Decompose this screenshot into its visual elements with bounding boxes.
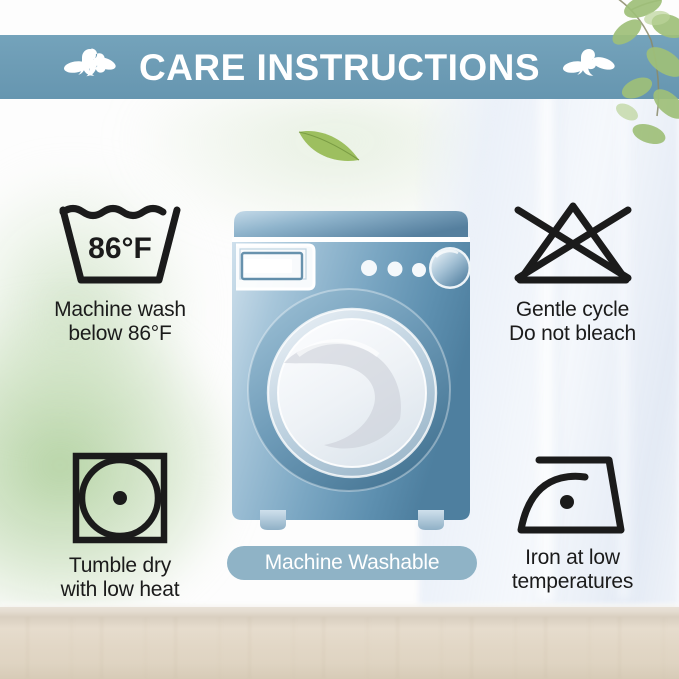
machine-washable-badge: Machine Washable [227, 546, 477, 580]
tumble-dry-icon [68, 448, 172, 548]
tumble-dry-heat-dot [113, 491, 127, 505]
care-symbol-iron: Iron at low temperatures [470, 448, 675, 593]
crossed-triangle-icon [508, 196, 638, 292]
iron-heat-dot [560, 495, 574, 509]
washer-foot-left [260, 510, 286, 530]
care-symbol-do-not-bleach: Gentle cycle Do not bleach [470, 196, 675, 345]
washer-button-3 [412, 263, 426, 277]
wash-tub-icon: 86°F [51, 196, 189, 292]
header-banner: CARE INSTRUCTIONS [0, 35, 679, 99]
care-symbol-caption: Machine wash below 86°F [14, 298, 226, 345]
care-symbol-caption: Gentle cycle Do not bleach [470, 298, 675, 345]
care-symbol-caption: Iron at low temperatures [470, 546, 675, 593]
wooden-table-surface [0, 607, 679, 679]
machine-washable-label: Machine Washable [265, 551, 440, 575]
page-title: CARE INSTRUCTIONS [139, 49, 540, 86]
care-symbol-machine-wash: 86°F Machine wash below 86°F [14, 196, 226, 345]
washer-top-lid [234, 211, 468, 237]
washing-machine-icon [228, 205, 474, 540]
washer-button-1 [361, 260, 377, 276]
iron-icon [509, 448, 637, 540]
wood-grain-texture [0, 617, 679, 679]
care-symbol-caption: Tumble dry with low heat [14, 554, 226, 601]
care-symbol-tumble-dry: Tumble dry with low heat [14, 448, 226, 601]
washer-foot-right [418, 510, 444, 530]
fleur-de-lis-icon-right [562, 45, 616, 89]
fleur-de-lis-icon-left [63, 45, 117, 89]
washer-button-2 [388, 262, 403, 277]
wash-temperature-label: 86°F [88, 232, 152, 265]
